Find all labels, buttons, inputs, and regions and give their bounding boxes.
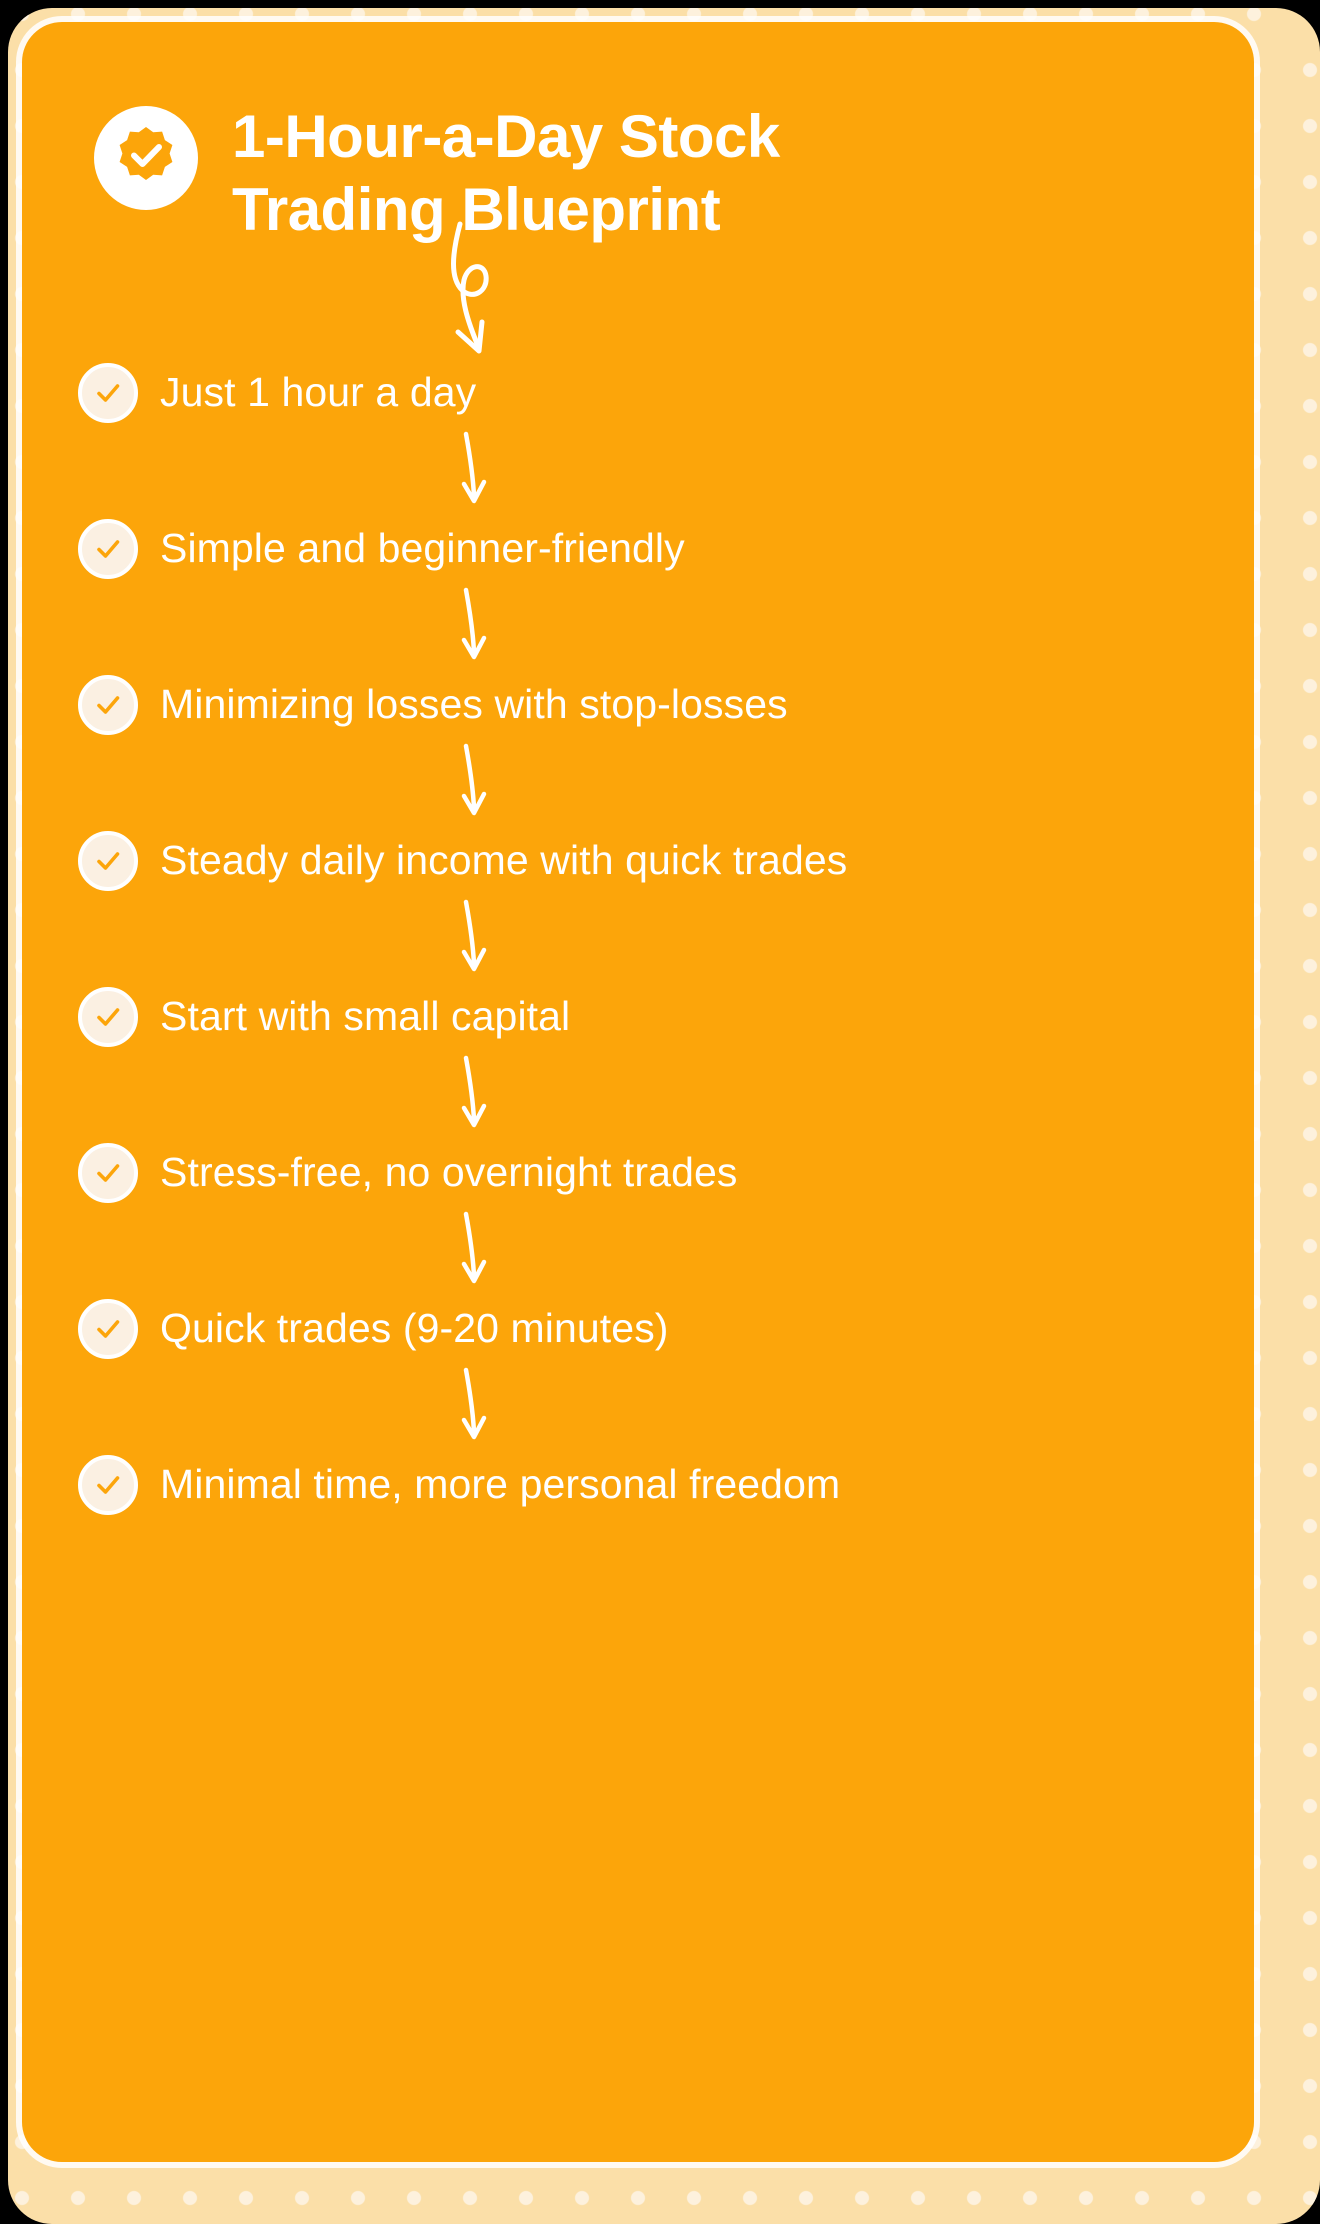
benefits-checklist: Just 1 hour a day Simple and beginner-fr… — [78, 352, 1208, 1526]
list-item-label: Minimal time, more personal freedom — [160, 1461, 840, 1508]
check-circle-icon — [78, 675, 138, 735]
list-item-label: Start with small capital — [160, 993, 570, 1040]
check-circle-icon — [78, 1299, 138, 1359]
list-item-label: Stress-free, no overnight trades — [160, 1149, 737, 1196]
list-item-label: Minimizing losses with stop-losses — [160, 681, 788, 728]
list-item: Steady daily income with quick trades — [78, 820, 1208, 902]
blueprint-card: 1-Hour-a-Day Stock Trading Blueprint Jus… — [22, 22, 1254, 2162]
list-item: Minimizing losses with stop-losses — [78, 664, 1208, 746]
page-title-line-1: 1-Hour-a-Day Stock — [232, 100, 780, 173]
check-circle-icon — [78, 831, 138, 891]
verified-badge-icon — [94, 106, 198, 210]
down-arrow-icon — [78, 434, 1208, 508]
down-arrow-icon — [78, 1214, 1208, 1288]
down-arrow-icon — [78, 590, 1208, 664]
down-arrow-icon — [78, 902, 1208, 976]
card-header: 1-Hour-a-Day Stock Trading Blueprint — [94, 100, 1174, 246]
check-circle-icon — [78, 363, 138, 423]
list-item: Minimal time, more personal freedom — [78, 1444, 1208, 1526]
list-item: Just 1 hour a day — [78, 352, 1208, 434]
down-arrow-icon — [78, 1058, 1208, 1132]
down-arrow-icon — [78, 746, 1208, 820]
list-item: Simple and beginner-friendly — [78, 508, 1208, 590]
list-item: Quick trades (9-20 minutes) — [78, 1288, 1208, 1370]
list-item: Stress-free, no overnight trades — [78, 1132, 1208, 1214]
list-item-label: Quick trades (9-20 minutes) — [160, 1305, 669, 1352]
check-circle-icon — [78, 1143, 138, 1203]
curly-loop-arrow-icon — [422, 220, 552, 360]
list-item: Start with small capital — [78, 976, 1208, 1058]
list-item-label: Steady daily income with quick trades — [160, 837, 847, 884]
list-item-label: Just 1 hour a day — [160, 369, 476, 416]
check-circle-icon — [78, 987, 138, 1047]
check-circle-icon — [78, 1455, 138, 1515]
down-arrow-icon — [78, 1370, 1208, 1444]
check-circle-icon — [78, 519, 138, 579]
list-item-label: Simple and beginner-friendly — [160, 525, 685, 572]
screenshot-root: 1-Hour-a-Day Stock Trading Blueprint Jus… — [0, 0, 1320, 2224]
